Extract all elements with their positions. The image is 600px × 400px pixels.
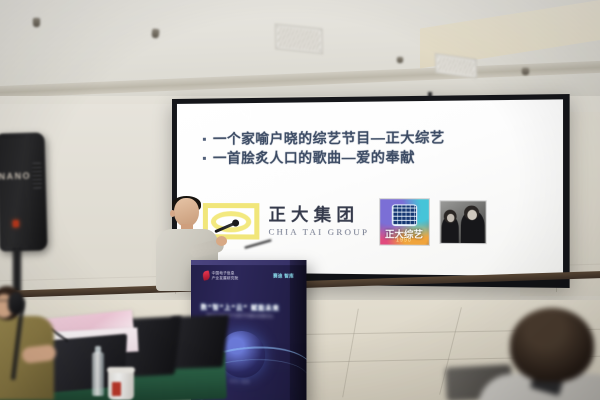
presenter-ear [170,210,175,217]
ceiling-cornice [0,61,600,98]
speaker-port [32,162,42,188]
power-indicator-led [13,220,19,227]
screen-surface: 一个家喻户晓的综艺节目—正大综艺 一首脍炙人口的歌曲—爱的奉献 正大集团 CHI… [177,99,563,276]
tile-seam [342,309,359,398]
speaker-grille [0,137,31,248]
chia-tai-wordmark: 正大集团 CHIA TAI GROUP [269,207,370,236]
photo-face-left [446,214,453,222]
air-vent-icon [275,23,323,54]
cup-label-band [112,382,121,396]
microphone-head [8,292,24,314]
presentation-slide: 一个家喻户晓的综艺节目—正大综艺 一首脍炙人口的歌曲—爱的奉献 正大集团 CHI… [177,99,563,276]
cup-lip [107,367,135,373]
ceiling [0,0,600,108]
paper-cup [108,370,134,400]
loudspeaker: NANO [0,132,48,251]
list-item: 一首脍炙人口的歌曲—爱的奉献 [203,147,548,168]
slide-bullet-list: 一个家喻户晓的综艺节目—正大综艺 一首脍炙人口的歌曲—爱的奉献 [203,127,548,168]
sprinkler-head-icon [522,68,529,75]
podium-cobrand-label: 赛迪 智库 [273,273,294,279]
vent-slats [438,56,474,75]
bullet-dot-icon [203,157,206,160]
podium-org-name: 中国电子信息 产业发展研究院 [212,271,239,281]
water-bottle [92,352,104,396]
photograph-conference-presentation: 一个家喻户晓的综艺节目—正大综艺 一首脍炙人口的歌曲—爱的奉献 正大集团 CHI… [0,0,600,400]
zhengda-variety-show-logo: 正大综艺 1990 [379,198,430,246]
vent-slats [278,27,320,51]
bullet-dot-icon [203,138,206,141]
black-white-performance-photo [439,200,486,244]
slide-bullet-text: 一首脍炙人口的歌曲—爱的奉献 [213,148,415,168]
chia-tai-english-name: CHIA TAI GROUP [269,227,370,236]
slide-bullet-text: 一个家喻户晓的综艺节目—正大综艺 [213,128,445,149]
thumbnail-subcaption: 1990 [380,237,429,244]
projection-screen: 一个家喻户晓的综艺节目—正大综艺 一首脍炙人口的歌曲—爱的奉献 正大集团 CHI… [172,94,570,288]
audience-member-right [498,308,600,400]
globe-icon [391,204,416,226]
chia-tai-chinese-name: 正大集团 [269,207,370,225]
podium-header: 中国电子信息 产业发展研究院 赛迪 智库 [203,271,294,281]
presenter-hand [216,236,227,246]
photo-face-right [467,210,477,220]
speaker-brand-label: NANO [0,171,31,182]
presenter-head [174,198,199,227]
sprinkler-head-icon [152,29,160,39]
podium-org-mark: 中国电子信息 产业发展研究院 [203,271,238,281]
sprinkler-head-icon [33,18,40,27]
list-item: 一个家喻户晓的综艺节目—正大综艺 [203,127,548,149]
sprinkler-head-icon [397,57,403,63]
podium-event-title: 数“智”上“云” 赋能未来 [191,302,290,312]
audience-head [510,308,594,382]
flame-icon [202,271,211,281]
